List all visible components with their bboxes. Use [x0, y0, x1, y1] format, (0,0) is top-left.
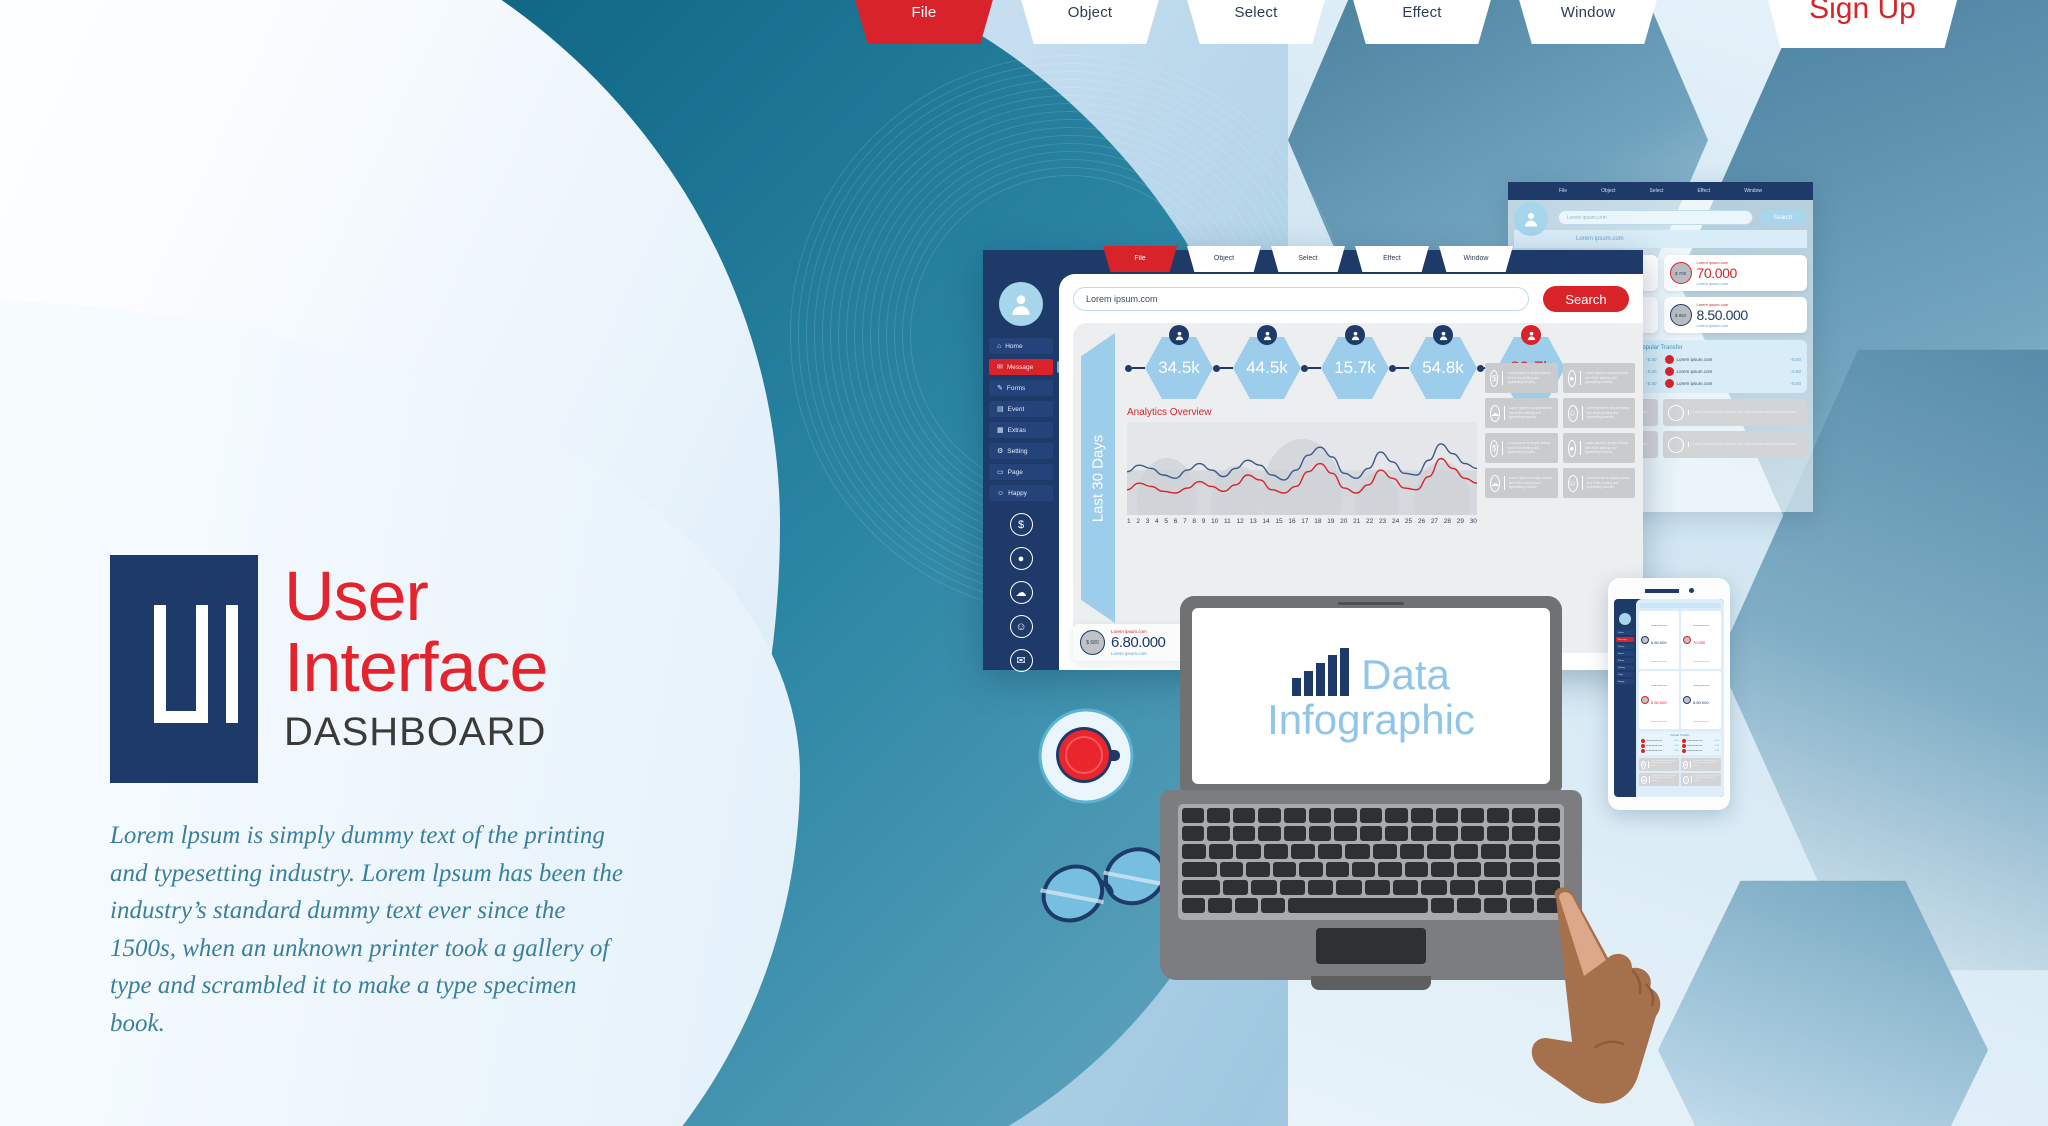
page-title-line2: Interface	[284, 632, 547, 703]
keyboard-key[interactable]	[1461, 826, 1483, 841]
phone-nav-item-event[interactable]: Event	[1616, 651, 1634, 656]
keyboard-key[interactable]	[1461, 808, 1483, 823]
keyboard-key[interactable]	[1345, 844, 1369, 859]
keyboard-key[interactable]	[1326, 862, 1349, 877]
keyboard-key[interactable]	[1284, 808, 1306, 823]
keyboard-key[interactable]	[1207, 826, 1229, 841]
chat-bubble-icon	[1668, 405, 1684, 421]
sidebar-item-happy[interactable]: ☺Happy	[989, 485, 1053, 501]
keyboard-key[interactable]	[1182, 862, 1217, 877]
hero-block: User Interface DASHBOARD Lorem lpsum is …	[110, 555, 770, 1042]
keyboard-key[interactable]	[1308, 880, 1333, 895]
keyboard-key[interactable]	[1233, 826, 1255, 841]
keyboard-key[interactable]	[1182, 898, 1205, 913]
card-label-top: Lorem ipsum.com	[1651, 685, 1667, 687]
top-nav-tab-select[interactable]: Select	[1182, 0, 1330, 44]
user-avatar-icon[interactable]	[999, 282, 1043, 326]
keyboard-key[interactable]	[1299, 862, 1322, 877]
stat-card[interactable]: $ 850 Lorem ipsum.com8.50.000Lorem ipsum…	[1664, 297, 1808, 333]
transfer-amount: -5.50	[1791, 369, 1801, 374]
secondary-tab-object[interactable]: Object	[1601, 188, 1615, 194]
smiley-icon: ☺	[1683, 776, 1689, 784]
card-label-bottom: Lorem ipsum.com	[1693, 661, 1709, 663]
chat-bubble-icon: ●	[1568, 370, 1576, 387]
main-tab-label: Window	[1464, 256, 1489, 263]
hex-connector	[1389, 365, 1409, 372]
main-window-titlebar: File Object Select Effect Window	[983, 250, 1643, 272]
keyboard-key[interactable]	[1235, 898, 1258, 913]
keyboard-key[interactable]	[1288, 898, 1428, 913]
user-avatar-icon	[1257, 325, 1277, 345]
x-axis-tick: 1	[1127, 518, 1131, 525]
smiley-icon: ☺	[1568, 405, 1578, 422]
x-axis-tick: 14	[1262, 518, 1269, 525]
hex-stat[interactable]: 15.7k	[1321, 337, 1389, 399]
info-tile[interactable]: $Lorem Ipsum is simply dummy text of the…	[1485, 363, 1558, 393]
message-icon: ✉	[997, 364, 1003, 371]
contact-avatar-icon	[1665, 367, 1674, 376]
sidebar-item-extras[interactable]: ▦Extras	[989, 422, 1053, 438]
secondary-search-button[interactable]: Search	[1759, 210, 1807, 225]
analytics-chart-svg	[1127, 422, 1477, 515]
chat-bubble-icon[interactable]: ●	[1010, 547, 1033, 570]
keyboard-key[interactable]	[1431, 898, 1454, 913]
keyboard-key[interactable]	[1436, 826, 1458, 841]
laptop-mockup[interactable]: Data Infographic	[1180, 596, 1562, 1036]
info-tile-text: Lorem Ipsum is simply dummy text of the …	[1582, 406, 1630, 419]
user-avatar-icon	[1345, 325, 1365, 345]
keyboard-key[interactable]	[1233, 808, 1255, 823]
signup-button[interactable]: Sign Up	[1760, 0, 1965, 48]
phone-nav-item-extras[interactable]: Extras	[1616, 658, 1634, 663]
phone-nav-item-happy[interactable]: Happy	[1616, 679, 1634, 684]
secondary-tab-effect[interactable]: Effect	[1697, 188, 1710, 194]
keyboard-key[interactable]	[1378, 862, 1401, 877]
info-tile[interactable]: ●Lorem Ipsum is simply dummy text of the…	[1563, 363, 1636, 393]
laptop-lid: Data Infographic	[1180, 596, 1562, 792]
info-tile-grid: $Lorem Ipsum is simply dummy text of the…	[1485, 363, 1635, 498]
main-tab-file[interactable]: File	[1103, 246, 1177, 272]
keyboard-key[interactable]	[1334, 808, 1356, 823]
info-tile[interactable]: $Lorem Ipsum is simply dummy text of the…	[1485, 433, 1558, 463]
keyboard-key[interactable]	[1261, 898, 1284, 913]
cloud-icon: ☁	[1490, 475, 1500, 492]
x-axis-tick: 23	[1379, 518, 1386, 525]
transfer-row[interactable]: Lorem ipsum.com-5.50	[1665, 367, 1802, 376]
main-window-tabs: File Object Select Effect Window	[1103, 246, 1513, 272]
phone-speaker	[1645, 589, 1679, 593]
keyboard-key[interactable]	[1246, 862, 1269, 877]
sidebar-item-home[interactable]: ⌂Home	[989, 338, 1053, 354]
phone-sidebar: HomeMessageFormsEventExtrasSettingPageHa…	[1614, 599, 1636, 797]
keyboard-key[interactable]	[1318, 844, 1342, 859]
info-tile[interactable]: ☁Lorem Ipsum is simply dummy text of the…	[1485, 398, 1558, 428]
secondary-search-input[interactable]: Lorem ipsum.com	[1558, 210, 1753, 225]
keyboard-key[interactable]	[1427, 844, 1451, 859]
phone-info-tile[interactable]: $Lorem Ipsum is simply dummy text of the…	[1639, 758, 1679, 771]
hex-stat-value: 44.5k	[1233, 337, 1301, 399]
transfer-amount: -5.50	[1714, 745, 1719, 747]
laptop-base	[1160, 790, 1582, 980]
coin-badge	[1683, 636, 1691, 644]
keyboard-key[interactable]	[1400, 844, 1424, 859]
keyboard-key[interactable]	[1220, 862, 1243, 877]
transfer-amount: -5.50	[1646, 357, 1656, 362]
keyboard-key[interactable]	[1280, 880, 1305, 895]
card-value: 6.80.000	[1651, 640, 1667, 645]
coin-badge	[1683, 696, 1691, 704]
keyboard-key[interactable]	[1182, 844, 1206, 859]
laptop-word-data: Data	[1361, 654, 1450, 696]
user-avatar-icon	[1433, 325, 1453, 345]
card-value: 6.80.000	[1111, 634, 1165, 651]
cloud-icon[interactable]: ☁	[1010, 581, 1033, 604]
logo-u-left-stroke	[154, 605, 166, 723]
page-subtitle: DASHBOARD	[284, 710, 547, 755]
keyboard-key[interactable]	[1512, 808, 1534, 823]
keyboard-key[interactable]	[1309, 808, 1331, 823]
keyboard-key[interactable]	[1457, 862, 1480, 877]
transfer-amount: -5.50	[1674, 750, 1679, 752]
info-tile-text: Lorem Ipsum is simply dummy text of the …	[1504, 406, 1553, 419]
sidebar-item-label: Forms	[1007, 385, 1025, 392]
phone-transfer-row[interactable]: Lorem ipsum.com-5.50	[1682, 749, 1720, 753]
keyboard-key[interactable]	[1360, 808, 1382, 823]
search-button[interactable]: Search	[1543, 286, 1629, 312]
sidebar-item-label: Message	[1007, 364, 1033, 371]
main-tab-effect[interactable]: Effect	[1355, 246, 1429, 272]
info-tile-text: Lorem Ipsum is simply dummy text of the …	[1648, 761, 1677, 767]
transfer-amount: -5.50	[1791, 357, 1801, 362]
transfer-amount: -5.50	[1714, 750, 1719, 752]
sidebar-icon-rail: $●☁☺✉	[989, 513, 1053, 672]
info-tile[interactable]: ☺Lorem Ipsum is simply dummy text of the…	[1563, 468, 1636, 498]
hex-stat[interactable]: 34.5k	[1145, 337, 1213, 399]
card-label-bottom: Lorem ipsum.com	[1651, 721, 1667, 723]
keyboard-key[interactable]	[1309, 826, 1331, 841]
transfer-name: Lorem ipsum.com	[1646, 750, 1673, 752]
keyboard-key[interactable]	[1509, 844, 1533, 859]
keyboard-key[interactable]	[1365, 880, 1390, 895]
hex-connector	[1213, 365, 1233, 372]
x-axis-tick: 8	[1192, 518, 1196, 525]
sidebar-item-label: Event	[1008, 406, 1025, 413]
analytics-x-axis: 1234567891011121314151617181920212223242…	[1127, 518, 1477, 525]
x-axis-tick: 30	[1470, 518, 1477, 525]
keyboard-key[interactable]	[1207, 808, 1229, 823]
keyboard-key[interactable]	[1450, 880, 1475, 895]
card-value: 8.50.000	[1697, 307, 1748, 323]
keyboard-key[interactable]	[1182, 826, 1204, 841]
transfer-name: Lorem ipsum.com	[1677, 357, 1788, 362]
card-label-bottom: Lorem ipsum.com	[1693, 721, 1709, 723]
user-avatar-icon[interactable]	[1514, 202, 1548, 236]
phone-transfer-rows: Lorem ipsum.com-5.50Lorem ipsum.com-5.50…	[1641, 739, 1719, 753]
phone-nav-item-forms[interactable]: Forms	[1616, 644, 1634, 649]
contact-avatar-icon	[1641, 749, 1645, 753]
sidebar-item-label: Setting	[1007, 448, 1027, 455]
smiley-icon[interactable]: ☺	[1010, 615, 1033, 638]
info-tile-text: Lorem Ipsum is simply dummy text of the …	[1688, 410, 1797, 414]
keyboard-key[interactable]	[1258, 808, 1280, 823]
sidebar: ⌂Home✉Message✎Forms▤Event▦Extras⚙Setting…	[983, 272, 1059, 670]
contact-avatar-icon	[1665, 379, 1674, 388]
keyboard-key[interactable]	[1537, 862, 1560, 877]
card-value: 8.50.000	[1693, 700, 1709, 705]
x-axis-tick: 12	[1237, 518, 1244, 525]
keyboard-key[interactable]	[1431, 862, 1454, 877]
hex-connector	[1125, 365, 1145, 372]
phone-nav-item-message[interactable]: Message	[1616, 637, 1634, 642]
info-tile-text: Lorem Ipsum is simply dummy text of the …	[1502, 441, 1552, 454]
keyboard-key[interactable]	[1291, 844, 1315, 859]
top-nav-tab-label: Effect	[1402, 5, 1441, 22]
keyboard-key[interactable]	[1484, 898, 1507, 913]
info-tile[interactable]: Lorem Ipsum is simply dummy text of the …	[1663, 431, 1807, 458]
phone-transfer-row[interactable]: Lorem ipsum.com-5.50	[1641, 749, 1679, 753]
x-axis-tick: 24	[1392, 518, 1399, 525]
info-tile[interactable]: Lorem Ipsum is simply dummy text of the …	[1663, 399, 1807, 426]
keyboard-key[interactable]	[1454, 844, 1478, 859]
x-axis-tick: 3	[1146, 518, 1150, 525]
phone-screen: HomeMessageFormsEventExtrasSettingPageHa…	[1614, 599, 1724, 797]
keyboard-key[interactable]	[1393, 880, 1418, 895]
card-label-bottom: Lorem ipsum.com	[1651, 661, 1667, 663]
sidebar-item-setting[interactable]: ⚙Setting	[989, 443, 1053, 459]
main-tab-window[interactable]: Window	[1439, 246, 1513, 272]
laptop-trackpad[interactable]	[1316, 928, 1426, 964]
keyboard-key[interactable]	[1385, 808, 1407, 823]
main-tab-label: Effect	[1383, 256, 1401, 263]
sidebar-item-label: Page	[1008, 469, 1023, 476]
top-nav-tab-label: Select	[1235, 5, 1278, 22]
transfer-name: Lorem ipsum.com	[1687, 750, 1714, 752]
phone-stat-card[interactable]: Lorem ipsum.com6.80.000Lorem ipsum.com	[1639, 611, 1679, 669]
x-axis-tick: 11	[1224, 518, 1231, 525]
laptop-foot	[1311, 976, 1431, 990]
analytics-chart	[1127, 422, 1477, 515]
smiley-icon	[1668, 437, 1684, 453]
signup-label: Sign Up	[1809, 0, 1916, 26]
keyboard-key[interactable]	[1487, 826, 1509, 841]
keyboard-key[interactable]	[1484, 862, 1507, 877]
envelope-icon[interactable]: ✉	[1010, 649, 1033, 672]
top-nav-tab-object[interactable]: Object	[1016, 0, 1164, 44]
phone-transfer-title: Popular Transfer	[1641, 734, 1719, 737]
main-tab-label: Object	[1214, 256, 1234, 263]
info-tile-text: Lorem Ipsum is simply dummy text of the …	[1582, 476, 1630, 489]
keyboard-key[interactable]	[1352, 862, 1375, 877]
keyboard-key[interactable]	[1334, 826, 1356, 841]
hex-stat[interactable]: 54.8k	[1409, 337, 1477, 399]
phone-info-tile[interactable]: ☺Lorem Ipsum is simply dummy text of the…	[1681, 773, 1721, 786]
keyboard-key[interactable]	[1264, 844, 1288, 859]
x-axis-tick: 18	[1314, 518, 1321, 525]
keyboard-key[interactable]	[1209, 844, 1233, 859]
top-nav-tab-effect[interactable]: Effect	[1348, 0, 1496, 44]
keyboard-key[interactable]	[1236, 844, 1260, 859]
keyboard-key[interactable]	[1360, 826, 1382, 841]
transfer-name: Lorem ipsum.com	[1646, 745, 1673, 747]
phone-nav-item-setting[interactable]: Setting	[1616, 665, 1634, 670]
keyboard-key[interactable]	[1182, 880, 1220, 895]
keyboard-key[interactable]	[1258, 826, 1280, 841]
phone-nav-item-page[interactable]: Page	[1616, 672, 1634, 677]
page-title-line1: User	[284, 561, 547, 632]
keyboard-key[interactable]	[1208, 898, 1231, 913]
smiley-icon: ☺	[997, 490, 1004, 497]
keyboard-key[interactable]	[1182, 808, 1204, 823]
secondary-tab-file[interactable]: File	[1559, 188, 1567, 194]
transfer-name: Lorem ipsum.com	[1677, 369, 1788, 374]
x-axis-tick: 13	[1249, 518, 1256, 525]
contact-avatar-icon	[1641, 739, 1645, 743]
secondary-window-tabbar: File Object Select Effect Window	[1508, 182, 1813, 200]
keyboard-key[interactable]	[1251, 880, 1276, 895]
keyboard-key[interactable]	[1512, 826, 1534, 841]
info-tile[interactable]: ●Lorem Ipsum is simply dummy text of the…	[1563, 433, 1636, 463]
pointing-hand	[1520, 880, 1670, 1110]
transfer-name: Lorem ipsum.com	[1677, 381, 1788, 386]
keyboard-key[interactable]	[1487, 808, 1509, 823]
info-tile-text: Lorem Ipsum is simply dummy text of the …	[1502, 371, 1552, 384]
transfer-amount: -5.50	[1646, 369, 1656, 374]
keyboard-key[interactable]	[1373, 844, 1397, 859]
sidebar-item-list: ⌂Home✉Message✎Forms▤Event▦Extras⚙Setting…	[989, 338, 1053, 501]
contact-avatar-icon	[1641, 744, 1645, 748]
card-value: 70.000	[1693, 640, 1705, 645]
phone-top-bar	[1614, 587, 1724, 594]
transfer-amount: -5.50	[1646, 381, 1656, 386]
sidebar-item-label: Extras	[1008, 427, 1026, 434]
main-tab-object[interactable]: Object	[1187, 246, 1261, 272]
phone-stat-card[interactable]: Lorem ipsum.com8.50.000Lorem ipsum.com	[1681, 671, 1721, 729]
coin-badge: $ 850	[1670, 304, 1692, 326]
phone-info-tile[interactable]: ●Lorem Ipsum is simply dummy text of the…	[1681, 758, 1721, 771]
sidebar-item-event[interactable]: ▤Event	[989, 401, 1053, 417]
keyboard-key[interactable]	[1411, 826, 1433, 841]
logo-u-right-stroke	[196, 605, 208, 723]
hex-connector	[1301, 365, 1321, 372]
user-avatar-icon	[1169, 325, 1189, 345]
dollar-icon: $	[1490, 440, 1498, 457]
main-tab-label: File	[1134, 256, 1145, 263]
transfer-row[interactable]: Lorem ipsum.com-5.50	[1665, 379, 1802, 388]
ui-logo	[110, 555, 258, 783]
phone-nav-item-home[interactable]: Home	[1616, 630, 1634, 635]
keyboard-key[interactable]	[1510, 862, 1533, 877]
stat-card[interactable]: $ 700 Lorem ipsum.com70.000Lorem ipsum.c…	[1664, 255, 1808, 291]
extras-icon: ▦	[997, 427, 1004, 434]
secondary-tab-window[interactable]: Window	[1744, 188, 1762, 194]
x-axis-tick: 7	[1183, 518, 1187, 525]
hex-stat-value: 54.8k	[1409, 337, 1477, 399]
main-tab-label: Select	[1298, 256, 1317, 263]
phone-transfer-row[interactable]: Lorem ipsum.com-5.50	[1641, 744, 1679, 748]
phone-search-bar[interactable]	[1639, 603, 1721, 608]
info-tile[interactable]: ☁Lorem Ipsum is simply dummy text of the…	[1485, 468, 1558, 498]
laptop-keyboard[interactable]	[1178, 804, 1564, 920]
sidebar-item-page[interactable]: ▭Page	[989, 464, 1053, 480]
keyboard-key[interactable]	[1481, 844, 1505, 859]
coffee-cup-icon	[1038, 708, 1134, 804]
keyboard-key[interactable]	[1273, 862, 1296, 877]
x-axis-tick: 4	[1155, 518, 1159, 525]
top-nav-tab-file[interactable]: File	[850, 0, 998, 44]
keyboard-key[interactable]	[1538, 826, 1560, 841]
chat-bubble-icon: ●	[1683, 761, 1688, 769]
keyboard-key[interactable]	[1536, 844, 1560, 859]
user-avatar-icon	[1619, 613, 1631, 625]
keyboard-key[interactable]	[1223, 880, 1248, 895]
phone-transfer-row[interactable]: Lorem ipsum.com-5.50	[1682, 739, 1720, 743]
keyboard-key[interactable]	[1411, 808, 1433, 823]
contact-avatar-icon	[1665, 355, 1674, 364]
sidebar-item-forms[interactable]: ✎Forms	[989, 380, 1053, 396]
info-tile[interactable]: ☺Lorem Ipsum is simply dummy text of the…	[1563, 398, 1636, 428]
coin-badge: $ 700	[1670, 262, 1692, 284]
sidebar-item-label: Home	[1005, 343, 1022, 350]
phone-stat-card[interactable]: Lorem ipsum.com5.50.000Lorem ipsum.com	[1639, 671, 1679, 729]
laptop-screen: Data Infographic	[1192, 608, 1550, 784]
transfer-row[interactable]: Lorem ipsum.com-5.50	[1665, 355, 1802, 364]
user-avatar-icon	[1521, 325, 1541, 345]
hero-paragraph: Lorem lpsum is simply dummy text of the …	[110, 817, 630, 1042]
keyboard-key[interactable]	[1538, 808, 1560, 823]
sidebar-item-label: Happy	[1008, 490, 1027, 497]
keyboard-key[interactable]	[1336, 880, 1361, 895]
keyboard-key[interactable]	[1421, 880, 1446, 895]
forms-icon: ✎	[997, 385, 1003, 392]
keyboard-key[interactable]	[1457, 898, 1480, 913]
phone-transfer-row[interactable]: Lorem ipsum.com-5.50	[1641, 739, 1679, 743]
info-tile-text: Lorem Ipsum is simply dummy text of the …	[1580, 441, 1630, 454]
keyboard-key[interactable]	[1405, 862, 1428, 877]
sidebar-item-message[interactable]: ✉Message	[989, 359, 1053, 375]
phone-mockup[interactable]: HomeMessageFormsEventExtrasSettingPageHa…	[1608, 578, 1730, 810]
card-label-bottom: Lorem ipsum.com	[1111, 651, 1165, 656]
keyboard-key[interactable]	[1436, 808, 1458, 823]
secondary-tab-select[interactable]: Select	[1650, 188, 1664, 194]
laptop-notch	[1338, 602, 1404, 605]
search-input[interactable]: Lorem ipsum.com	[1073, 287, 1529, 311]
top-nav-tab-window[interactable]: Window	[1514, 0, 1662, 44]
coin-badge: $ 680	[1080, 630, 1105, 655]
dollar-icon[interactable]: $	[1010, 513, 1033, 536]
main-tab-select[interactable]: Select	[1271, 246, 1345, 272]
keyboard-row	[1182, 880, 1560, 895]
x-axis-tick: 25	[1405, 518, 1412, 525]
keyboard-row	[1182, 844, 1560, 859]
keyboard-key[interactable]	[1385, 826, 1407, 841]
coin-badge	[1641, 636, 1649, 644]
top-nav-tabs: File Object Select Effect Window	[850, 0, 1662, 44]
keyboard-row	[1182, 898, 1560, 913]
top-navigation: File Object Select Effect Window Sign Up	[0, 0, 2048, 46]
laptop-word-infographic: Infographic	[1267, 696, 1475, 744]
phone-stat-card[interactable]: Lorem ipsum.com70.000Lorem ipsum.com	[1681, 611, 1721, 669]
phone-transfer-row[interactable]: Lorem ipsum.com-5.50	[1682, 744, 1720, 748]
keyboard-key[interactable]	[1478, 880, 1503, 895]
card-label-bottom: Lorem ipsum.com	[1697, 281, 1737, 286]
ribbon-label: Last 30 Days	[1090, 434, 1107, 522]
hex-stat[interactable]: 44.5k	[1233, 337, 1301, 399]
secondary-url-bar[interactable]: Lorem ipsum.com	[1514, 230, 1807, 248]
keyboard-key[interactable]	[1284, 826, 1306, 841]
phone-info-tile[interactable]: ☁Lorem Ipsum is simply dummy text of the…	[1639, 773, 1679, 786]
info-tile-text: Lorem Ipsum is simply dummy text of the …	[1580, 371, 1630, 384]
phone-content: Lorem ipsum.com6.80.000Lorem ipsum.comLo…	[1636, 599, 1724, 797]
